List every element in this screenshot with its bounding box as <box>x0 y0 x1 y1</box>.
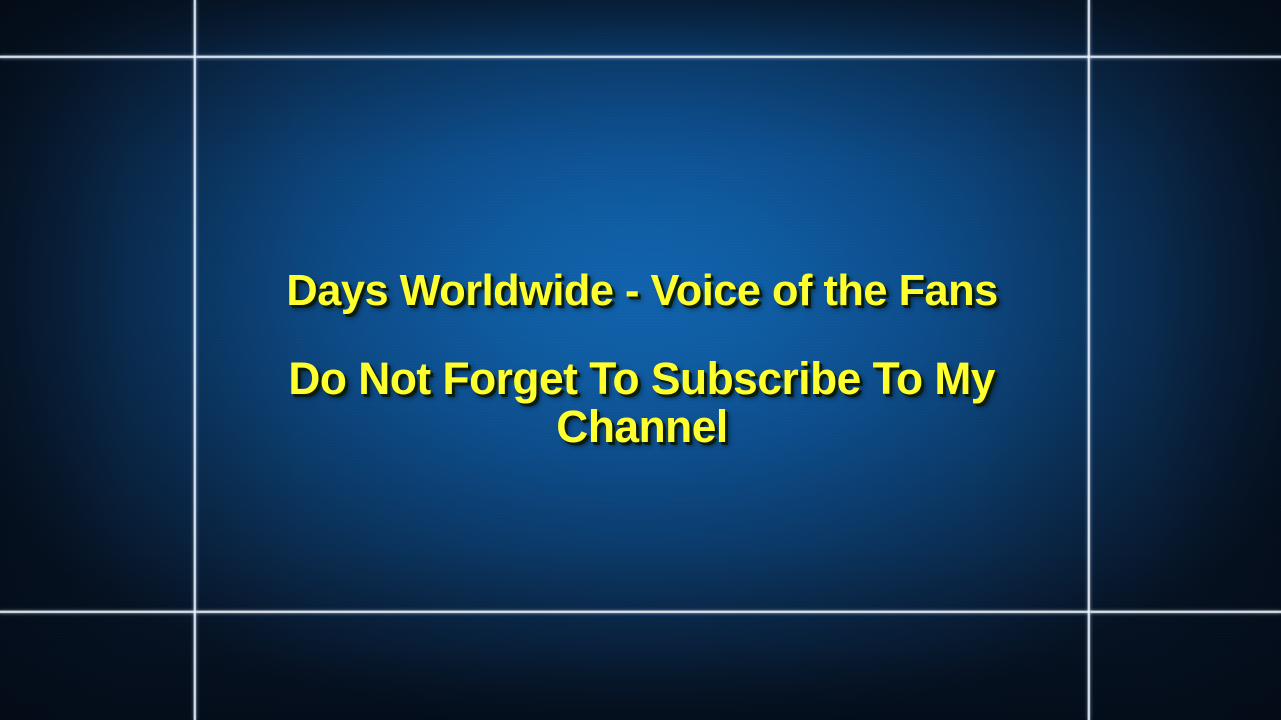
caption-container: Days Worldwide - Voice of the Fans Do No… <box>195 59 1089 610</box>
caption-title: Days Worldwide - Voice of the Fans <box>286 265 997 317</box>
caption-subscribe-line-2: Channel <box>556 403 727 451</box>
video-title-card: Days Worldwide - Voice of the Fans Do No… <box>0 0 1281 720</box>
caption-subscribe-line-1: Do Not Forget To Subscribe To My <box>289 355 996 403</box>
caption-subscribe-block: Do Not Forget To Subscribe To My Channel <box>283 355 1000 451</box>
